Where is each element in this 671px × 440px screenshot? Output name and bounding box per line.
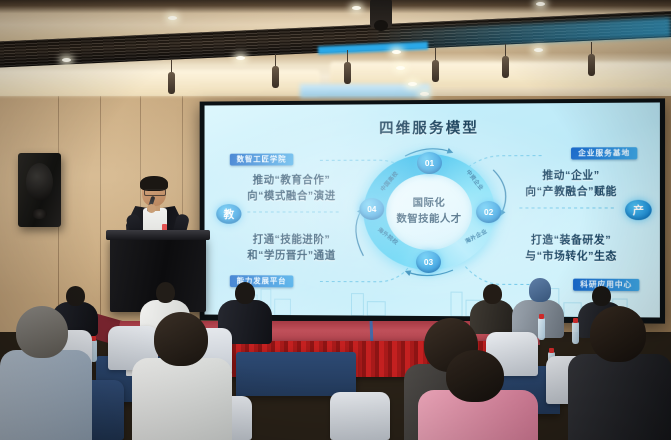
node-04: 04 [359,198,384,220]
center-line-1: 国际化 [413,196,446,212]
pendant-light [272,66,279,88]
audience-table [236,352,356,396]
center-line-2: 数智技能人才 [396,212,461,228]
quadrant-line: 打通“技能进阶” [218,232,365,248]
slide-title: 四维服务模型 [205,116,660,139]
audience-person-foreground [568,306,671,440]
water-bottle [538,318,545,340]
center-donut-diagram: 国际化 数智技能人才 01 02 03 04 中国高校 中资企业 海外企业 海外… [353,144,505,281]
quadrant-line: 打造“装备研发” [495,232,647,248]
side-badge-jiao: 教 [216,204,241,224]
quadrant-line: 推动“企业” [495,167,647,183]
tag-top-right: 企业服务基地 [571,147,637,159]
ceiling [0,0,671,96]
quadrant-bottom-right: 打造“装备研发” 与“市场转化”生态 [495,232,647,265]
quadrant-line: 向“产教融合”赋能 [495,184,647,200]
pendant-light [344,62,351,84]
audience-person-foreground [0,306,92,440]
quadrant-line: 和“学历晋升”通道 [218,248,365,264]
audience-person-foreground [418,350,538,440]
conference-room: 四维服务模型 [0,0,671,440]
pendant-light [432,60,439,82]
node-03: 03 [416,251,441,273]
wall-speaker [18,153,61,227]
tag-top-left: 数智工匠学院 [230,153,294,165]
quadrant-line: 向“模式融合”演进 [218,188,365,204]
pendant-light [588,54,595,76]
audience-person-foreground [132,312,232,440]
quadrant-bottom-left: 打通“技能进阶” 和“学历晋升”通道 [218,232,365,264]
quadrant-top-right: 推动“企业” 向“产教融合”赋能 [495,167,647,200]
audience-chair [330,392,390,440]
node-02: 02 [476,201,501,223]
quadrant-line: 推动“教育合作” [218,172,365,188]
side-badge-chan: 产 [625,200,652,220]
node-01: 01 [417,152,442,174]
pendant-light [502,56,509,78]
quadrant-line: 与“市场转化”生态 [495,248,647,265]
glasses [144,189,166,196]
quadrant-top-left: 推动“教育合作” 向“模式融合”演进 [218,172,365,204]
screenshot-root: 四维服务模型 [0,0,671,440]
pendant-light [168,72,175,94]
ceiling-projector [370,0,392,28]
